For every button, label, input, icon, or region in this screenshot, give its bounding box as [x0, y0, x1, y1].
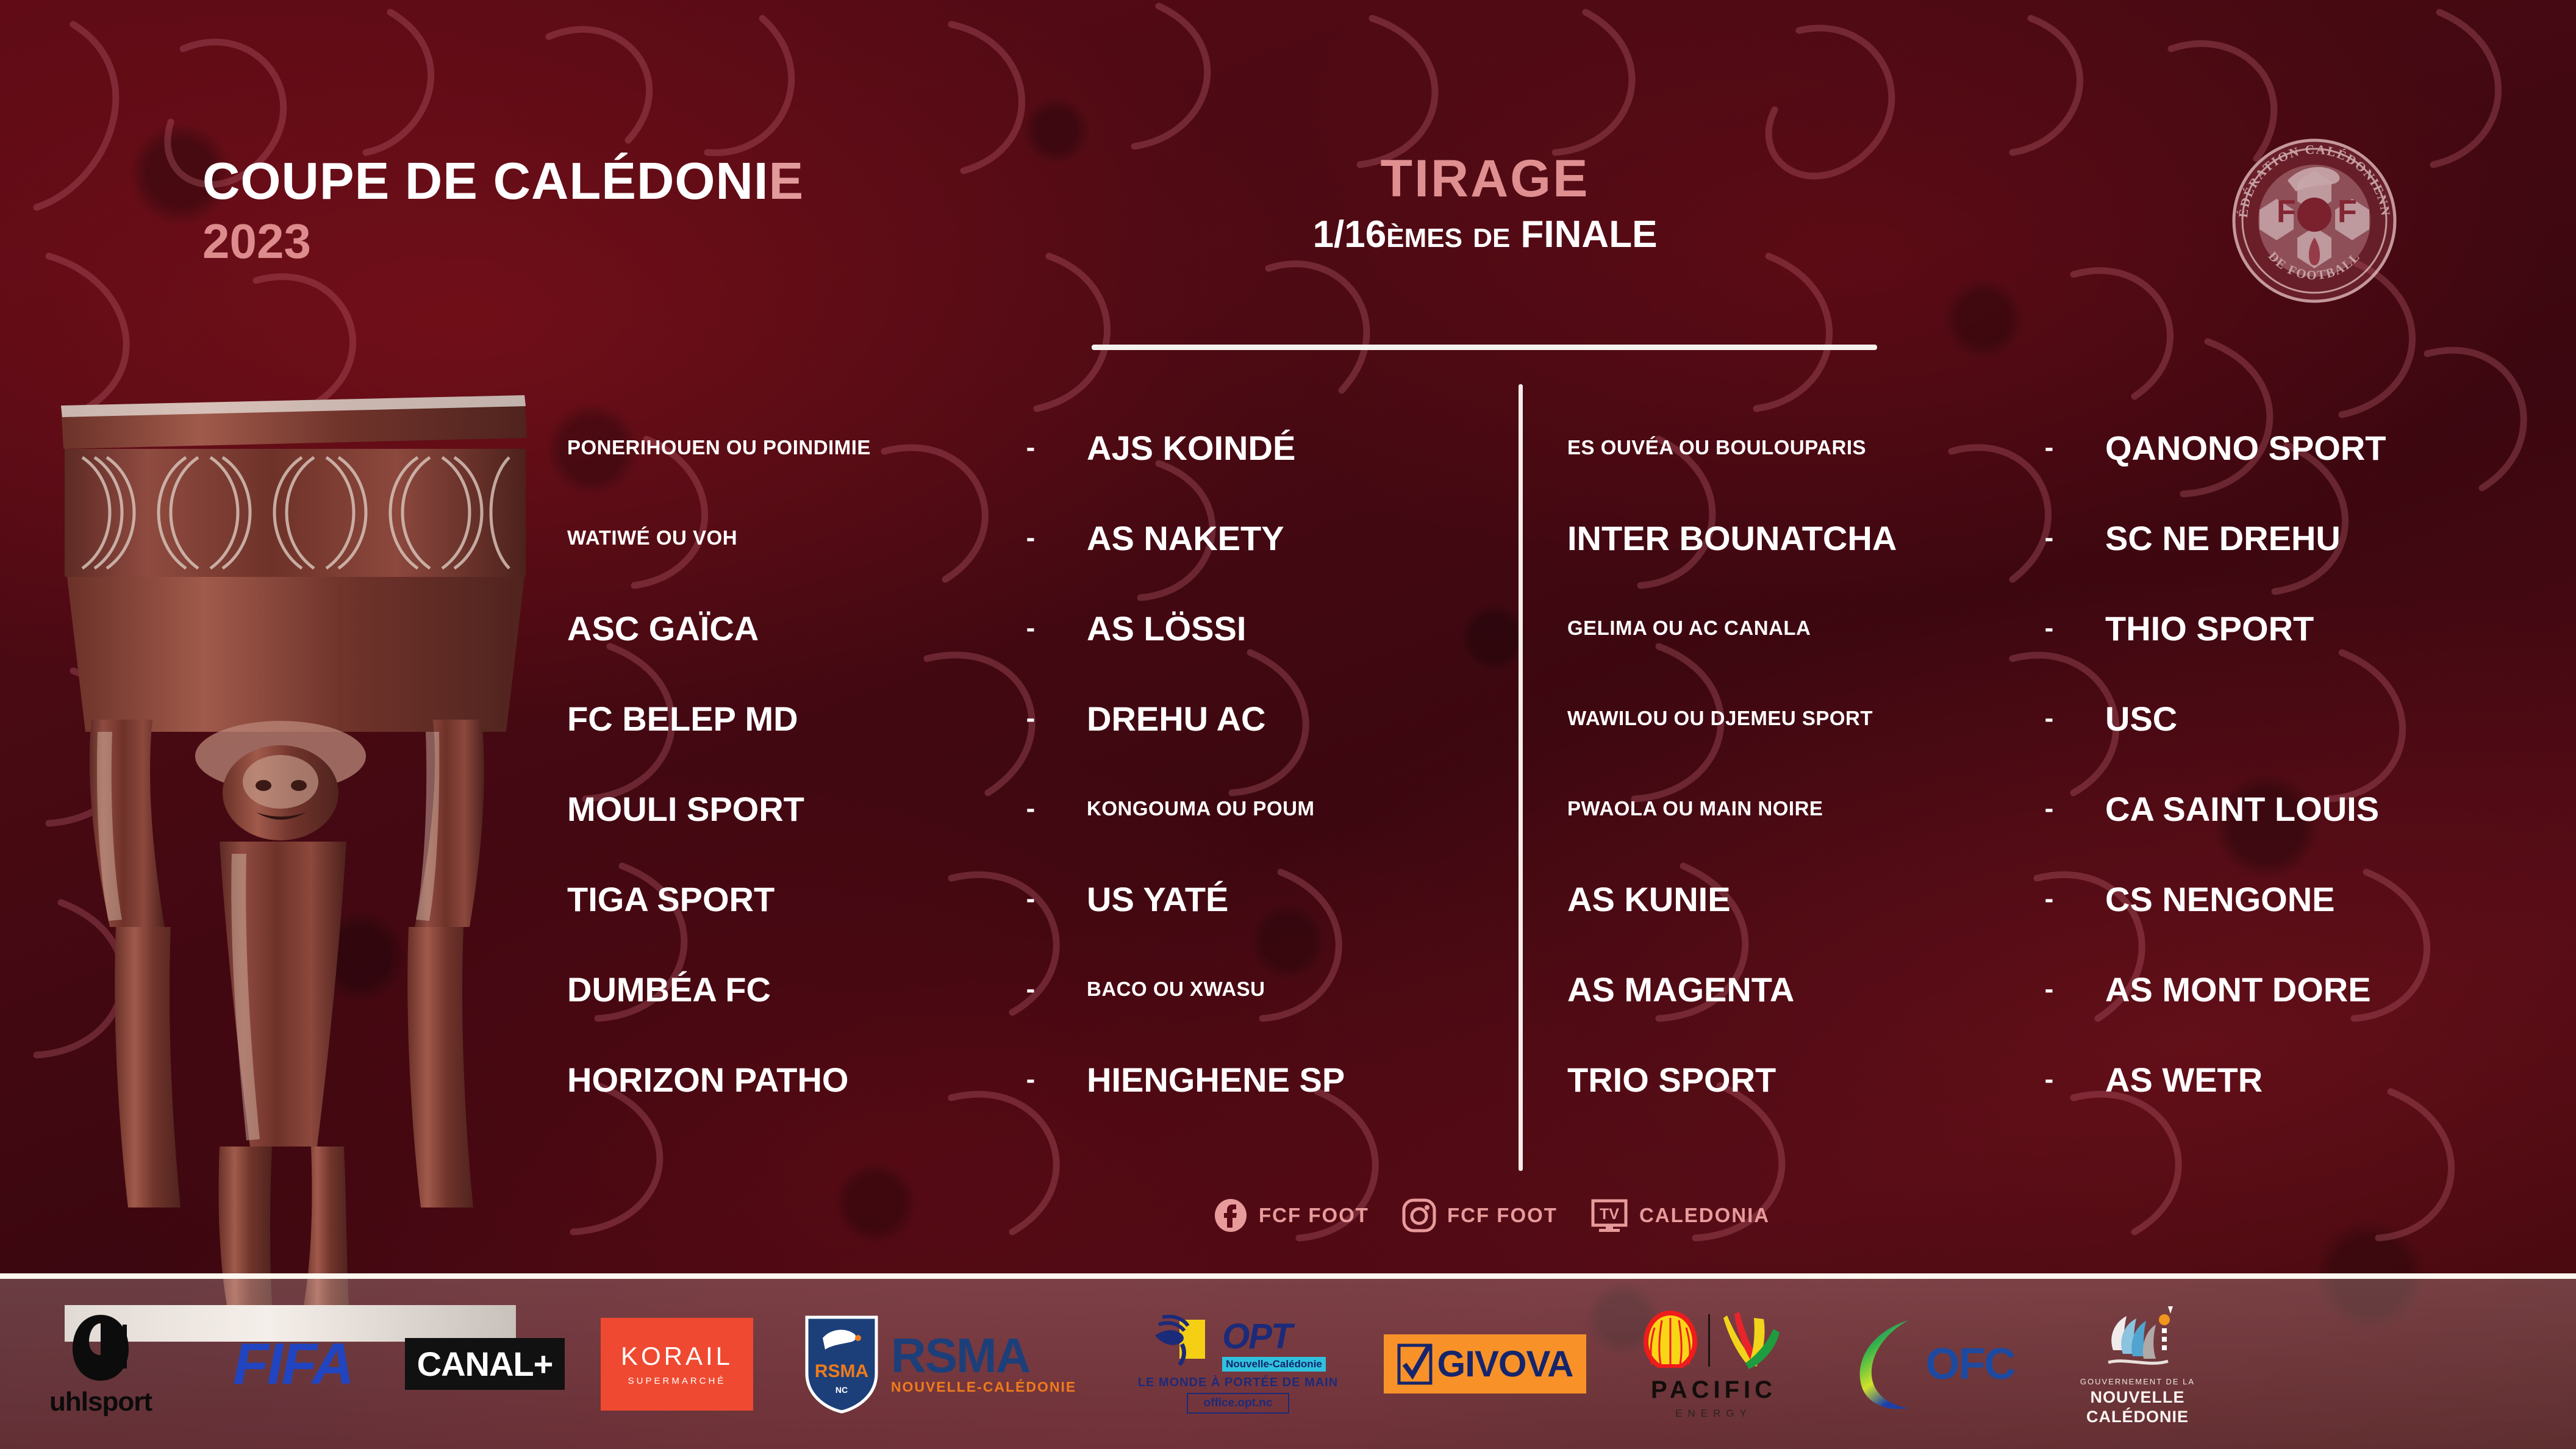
- sponsor-ofc: OFC: [1823, 1279, 2043, 1449]
- match-dash: -: [2012, 884, 2086, 914]
- gov-label-line2: NOUVELLE: [2090, 1389, 2184, 1406]
- match-row: HORIZON PATHO-HIENGHENE SP: [567, 1034, 1500, 1125]
- home-team: PONERIHOUEN OU POINDIMIE: [567, 436, 994, 459]
- match-dash: -: [994, 974, 1067, 1004]
- match-dash: -: [994, 613, 1067, 643]
- match-row: ES OUVÉA OU BOULOUPARIS-QANONO SPORT: [1567, 402, 2525, 493]
- social-label-tv: CALEDONIA: [1639, 1204, 1770, 1227]
- match-dash: -: [2012, 1064, 2086, 1095]
- opt-bird-icon: [1150, 1315, 1217, 1373]
- home-team: TIGA SPORT: [567, 879, 994, 919]
- match-row: FC BELEP MD-DREHU AC: [567, 673, 1500, 764]
- match-column-right: ES OUVÉA OU BOULOUPARIS-QANONO SPORT INT…: [1567, 402, 2525, 1125]
- sponsor-opt-url: office.opt.nc: [1187, 1393, 1290, 1414]
- svg-text:F: F: [2277, 194, 2296, 229]
- sponsor-canal-label: CANAL+: [405, 1338, 565, 1390]
- match-dash: -: [2012, 432, 2086, 463]
- svg-text:RSMA: RSMA: [815, 1361, 868, 1381]
- tirage-label: TIRAGE: [1092, 152, 1878, 205]
- away-team: AJS KOINDÉ: [1067, 428, 1500, 468]
- poster-canvas: COUPE DE CALÉDONIE 2023 TIRAGE 1/16ÈMES …: [0, 0, 2576, 1449]
- match-row: ASC GAÏCA-AS LÖSSI: [567, 583, 1500, 673]
- match-row: DUMBÉA FC-BACO OU XWASU: [567, 944, 1500, 1034]
- match-row: AS MAGENTA-AS MONT DORE: [1567, 944, 2525, 1034]
- match-row: AS KUNIE-CS NENGONE: [1567, 854, 2525, 944]
- match-dash: -: [2012, 613, 2086, 643]
- away-team: KONGOUMA OU POUM: [1067, 797, 1500, 820]
- sponsor-givova-box: GIVOVA: [1384, 1334, 1587, 1394]
- match-row: TRIO SPORT-AS WETR: [1567, 1034, 2525, 1125]
- match-row: INTER BOUNATCHA-SC NE DREHU: [1567, 493, 2525, 583]
- title-block: COUPE DE CALÉDONIE 2023: [202, 156, 804, 266]
- sponsor-rsma-sub: NOUVELLE-CALÉDONIE: [891, 1379, 1076, 1395]
- nouvelle-caledonie-emblem-icon: [2097, 1303, 2178, 1375]
- match-dash: -: [994, 432, 1067, 463]
- match-row: TIGA SPORT-US YATÉ: [567, 854, 1500, 944]
- match-dash: -: [994, 523, 1067, 553]
- match-row: WAWILOU OU DJEMEU SPORT-USC: [1567, 673, 2525, 764]
- away-team: HIENGHENE SP: [1067, 1060, 1500, 1100]
- tirage-round: 1/16ÈMES DE FINALE: [1092, 216, 1878, 254]
- sponsor-givova: GIVOVA: [1366, 1279, 1604, 1449]
- round-number: 1/16: [1313, 213, 1387, 256]
- home-team: FC BELEP MD: [567, 699, 994, 739]
- match-row: PWAOLA OU MAIN NOIRE-CA SAINT LOUIS: [1567, 764, 2525, 854]
- away-team: AS LÖSSI: [1067, 609, 1500, 648]
- home-team: AS KUNIE: [1567, 879, 2012, 919]
- round-finale: FINALE: [1521, 213, 1658, 256]
- away-team: US YATÉ: [1067, 879, 1500, 919]
- match-dash: -: [994, 884, 1067, 914]
- social-links-row: FCF FOOT FCF FOOT TV CALEDONIA: [1214, 1198, 1770, 1233]
- rsma-shield-icon: RSMA NC: [802, 1314, 881, 1414]
- round-suffix: ÈMES: [1386, 223, 1462, 253]
- match-row: WATIWÉ OU VOH-AS NAKETY: [567, 493, 1500, 583]
- home-team: AS MAGENTA: [1567, 970, 2012, 1009]
- sponsor-korail-sub: SUPERMARCHÉ: [628, 1376, 726, 1386]
- svg-text:NC: NC: [835, 1385, 848, 1395]
- tirage-header: TIRAGE 1/16ÈMES DE FINALE: [1092, 152, 1878, 254]
- gov-label-line3: CALÉDONIE: [2086, 1408, 2189, 1425]
- match-dash: -: [2012, 793, 2086, 824]
- home-team: DUMBÉA FC: [567, 970, 994, 1009]
- sponsor-opt: OPT Nouvelle-Calédonie LE MONDE À PORTÉE…: [1110, 1279, 1366, 1449]
- away-team: BACO OU XWASU: [1067, 978, 1500, 1001]
- match-row: MOULI SPORT-KONGOUMA OU POUM: [567, 764, 1500, 854]
- svg-text:TV: TV: [1600, 1206, 1619, 1223]
- sponsor-korail-label: KORAIL: [621, 1342, 733, 1371]
- away-team: AS MONT DORE: [2086, 970, 2525, 1009]
- social-label-instagram: FCF FOOT: [1447, 1204, 1558, 1227]
- home-team: WAWILOU OU DJEMEU SPORT: [1567, 707, 2012, 730]
- title-year: 2023: [202, 217, 804, 266]
- away-team: DREHU AC: [1067, 699, 1500, 739]
- sponsor-uhlsport: uhlsport: [0, 1279, 201, 1449]
- instagram-icon[interactable]: [1402, 1198, 1436, 1233]
- sponsor-rsma-label: RSMA: [891, 1333, 1030, 1379]
- uhlsport-icon: [64, 1311, 137, 1384]
- match-row: GELIMA OU AC CANALA-THIO SPORT: [1567, 583, 2525, 673]
- match-dash: -: [2012, 523, 2086, 553]
- sponsor-canal: CANAL+: [384, 1279, 585, 1449]
- givova-check-icon: [1397, 1343, 1433, 1385]
- facebook-icon[interactable]: [1214, 1198, 1248, 1233]
- social-link-instagram[interactable]: FCF FOOT: [1402, 1198, 1558, 1233]
- sponsor-pacific-energy: PACIFIC ENERGY: [1604, 1279, 1823, 1449]
- away-team: SC NE DREHU: [2086, 518, 2525, 558]
- away-team: USC: [2086, 699, 2525, 739]
- match-dash: -: [2012, 974, 2086, 1004]
- home-team: WATIWÉ OU VOH: [567, 526, 994, 549]
- social-link-facebook[interactable]: FCF FOOT: [1214, 1198, 1369, 1233]
- social-link-tv[interactable]: TV CALEDONIA: [1590, 1198, 1770, 1233]
- home-team: INTER BOUNATCHA: [1567, 518, 2012, 558]
- sponsor-opt-tagline: LE MONDE À PORTÉE DE MAIN: [1138, 1376, 1338, 1390]
- sponsor-opt-nc: Nouvelle-Calédonie: [1222, 1357, 1326, 1372]
- home-team: TRIO SPORT: [1567, 1060, 2012, 1100]
- match-row: PONERIHOUEN OU POINDIMIE-AJS KOINDÉ: [567, 402, 1500, 493]
- sponsor-uhlsport-label: uhlsport: [49, 1387, 152, 1417]
- sponsor-bar-top-rule: [0, 1273, 2576, 1279]
- home-team: PWAOLA OU MAIN NOIRE: [1567, 797, 2012, 820]
- sponsor-rsma: RSMA NC RSMA NOUVELLE-CALÉDONIE: [768, 1279, 1110, 1449]
- sponsor-ofc-label: OFC: [1926, 1339, 2015, 1389]
- sponsor-pacific-sub: ENERGY: [1675, 1408, 1752, 1420]
- sponsor-fifa-label: FIFA: [233, 1331, 352, 1398]
- away-team: CA SAINT LOUIS: [2086, 789, 2525, 829]
- sponsor-gouvernement-nc: GOUVERNEMENT DE LA NOUVELLE CALÉDONIE: [2043, 1279, 2232, 1449]
- round-de: DE: [1473, 223, 1510, 253]
- match-dash: -: [2012, 703, 2086, 734]
- match-dash: -: [994, 793, 1067, 824]
- social-label-facebook: FCF FOOT: [1259, 1204, 1369, 1227]
- tv-icon[interactable]: TV: [1590, 1198, 1628, 1233]
- match-dash: -: [994, 703, 1067, 734]
- away-team: AS WETR: [2086, 1060, 2525, 1100]
- svg-text:F: F: [2338, 194, 2357, 229]
- page-title-tail: E: [768, 152, 804, 210]
- sponsor-pacific-label: PACIFIC: [1651, 1376, 1776, 1404]
- sponsor-korail-box: KORAIL SUPERMARCHÉ: [601, 1318, 753, 1411]
- home-team: ASC GAÏCA: [567, 609, 994, 648]
- page-title: COUPE DE CALÉDONIE: [202, 156, 804, 207]
- home-team: MOULI SPORT: [567, 789, 994, 829]
- match-column-left: PONERIHOUEN OU POINDIMIE-AJS KOINDÉ WATI…: [567, 402, 1500, 1125]
- sponsor-fifa: FIFA: [201, 1279, 384, 1449]
- away-team: CS NENGONE: [2086, 879, 2525, 919]
- ofc-swoosh-icon: [1852, 1315, 1922, 1413]
- page-title-text: COUPE DE CALÉDONI: [202, 152, 768, 210]
- sponsor-givova-label: GIVOVA: [1437, 1343, 1573, 1385]
- sponsor-korail: KORAIL SUPERMARCHÉ: [585, 1279, 768, 1449]
- column-divider: [1519, 384, 1523, 1171]
- away-team: THIO SPORT: [2086, 609, 2525, 648]
- match-dash: -: [994, 1064, 1067, 1095]
- gov-label-line1: GOUVERNEMENT DE LA: [2080, 1377, 2195, 1386]
- trophy-sculpture-image: [37, 390, 549, 1342]
- away-team: QANONO SPORT: [2086, 428, 2525, 468]
- header-divider-rule: [1092, 345, 1877, 350]
- shell-icon: [1641, 1308, 1700, 1373]
- pacific-fan-icon: [1719, 1308, 1787, 1373]
- sponsor-bar: uhlsport FIFA CANAL+ KORAIL SUPERMARCHÉ …: [0, 1279, 2576, 1449]
- home-team: HORIZON PATHO: [567, 1060, 994, 1100]
- home-team: ES OUVÉA OU BOULOUPARIS: [1567, 436, 2012, 459]
- home-team: GELIMA OU AC CANALA: [1567, 617, 2012, 640]
- sponsor-opt-label: OPT: [1222, 1316, 1326, 1357]
- federation-crest-logo: F F FÉDÉRATION CALÉDONIENNE DE FOOTBALL: [2229, 135, 2400, 306]
- away-team: AS NAKETY: [1067, 518, 1500, 558]
